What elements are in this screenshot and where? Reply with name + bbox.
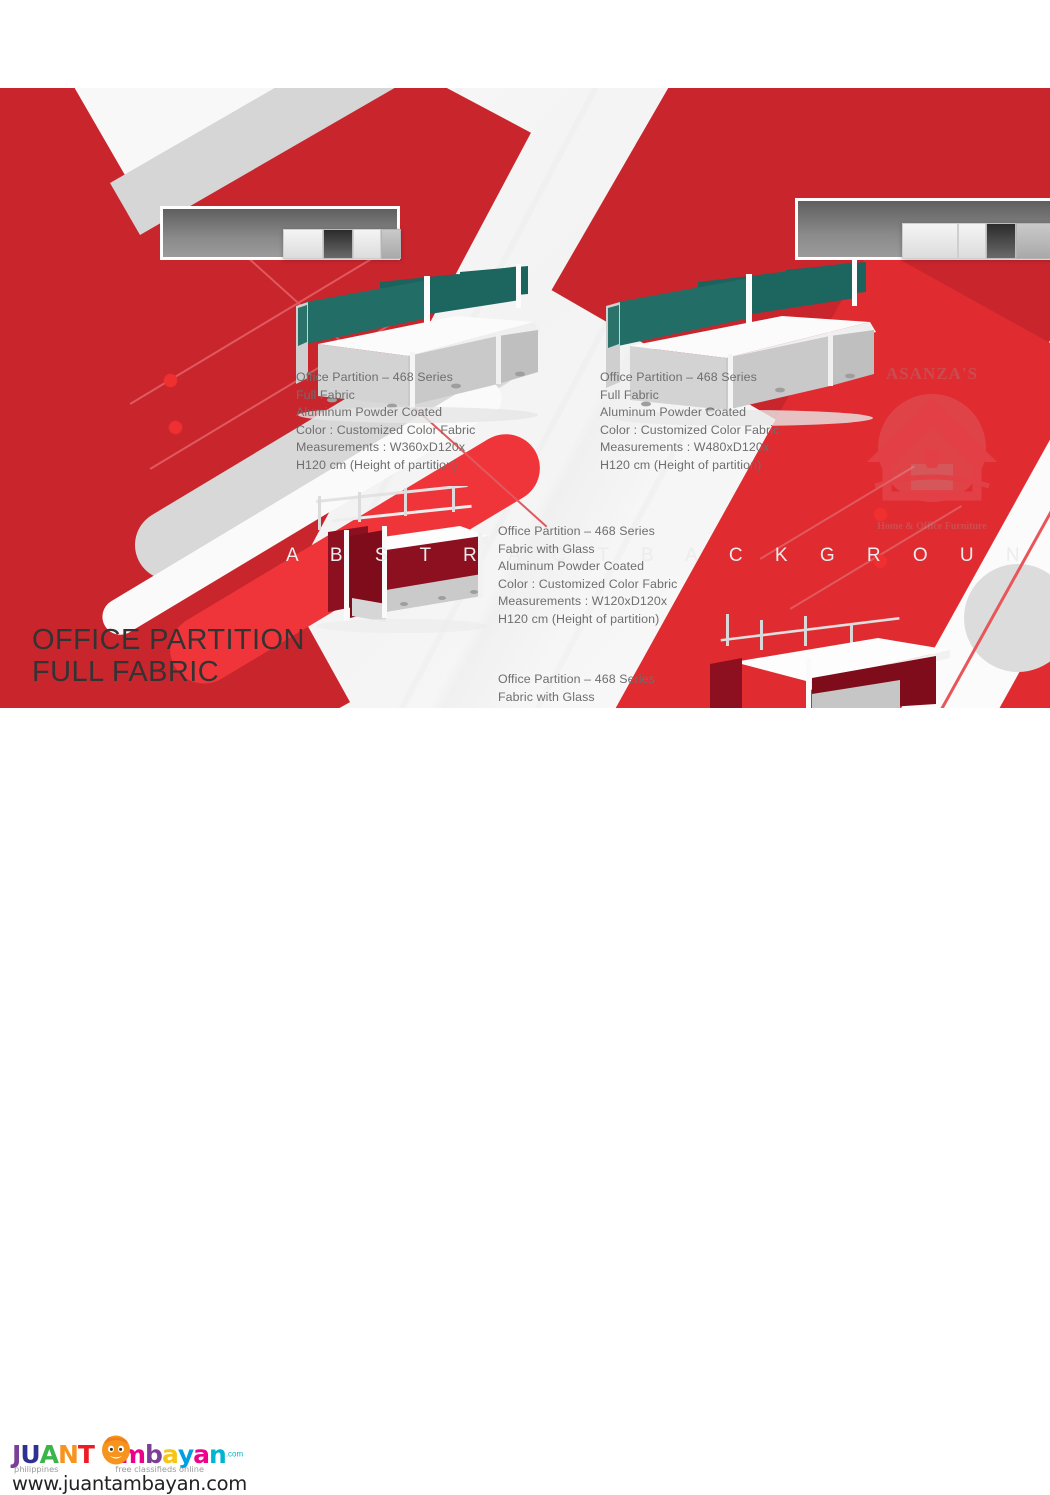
logo-dotcom: .com [226,1450,243,1459]
spec-line: Office Partition – 468 Series [296,369,475,387]
spec-line: Color : Customized Color Fabric [498,576,677,594]
spec-line: Color : Customized Color Fabric [296,422,475,440]
spec-line: Aluminum Powder Coated [296,404,475,422]
logo-letter: n [209,1440,226,1469]
workstation-image-maroon-glass-bottom [700,608,960,708]
accent-dot-left-2 [169,421,182,434]
spec-line: H120 cm (Height of partition) [498,611,677,629]
accent-dot-right-1 [874,508,887,521]
spec-line: Fabric with Glass [498,541,677,559]
spec-line: H120 cm (Height of partition) [296,457,475,475]
spec-line: Measurements : W480xD120x [600,439,779,457]
banner-image-left [160,206,400,260]
spec-line: Measurements : W360xD120x [296,439,475,457]
spec-line: Office Partition – 468 Series [498,671,655,689]
ws-maroon-bottom-geometry [710,614,950,708]
cabinet-left [283,229,401,259]
spec-line: Measurements : W120xD120x [498,593,677,611]
banner-image-right [795,198,1050,260]
headline-office-partition-full-fabric: OFFICE PARTITION FULL FABRIC [32,624,305,689]
spec-line: H120 cm (Height of partition) [600,457,779,475]
brand-footer: JUANTmbayan.com philippines free classif… [0,708,1050,788]
accent-dot-left-1 [164,374,177,387]
spec-line: Aluminum Powder Coated [498,558,677,576]
spec-line: Aluminum Powder Coated [600,404,779,422]
spec-block-middle-right: Office Partition – 468 SeriesFabric with… [498,523,677,629]
spec-block-bottom-right: Office Partition – 468 SeriesFabric with… [498,671,655,706]
spec-line: Color : Customized Color Fabric [600,422,779,440]
spec-block-top-right: Office Partition – 468 SeriesFull Fabric… [600,369,779,475]
spec-line: Fabric with Glass [498,689,655,707]
poster-canvas: A B S T R A C T B A C K G R O U N D Offi… [0,88,1050,708]
spec-line: Full Fabric [296,387,475,405]
website-url[interactable]: www.juantambayan.com [12,1472,247,1495]
spec-line: Office Partition – 468 Series [498,523,677,541]
cabinet-right [902,223,1050,259]
spec-line: Office Partition – 468 Series [600,369,779,387]
spec-line: Full Fabric [600,387,779,405]
spec-block-top-left: Office Partition – 468 SeriesFull Fabric… [296,369,475,475]
